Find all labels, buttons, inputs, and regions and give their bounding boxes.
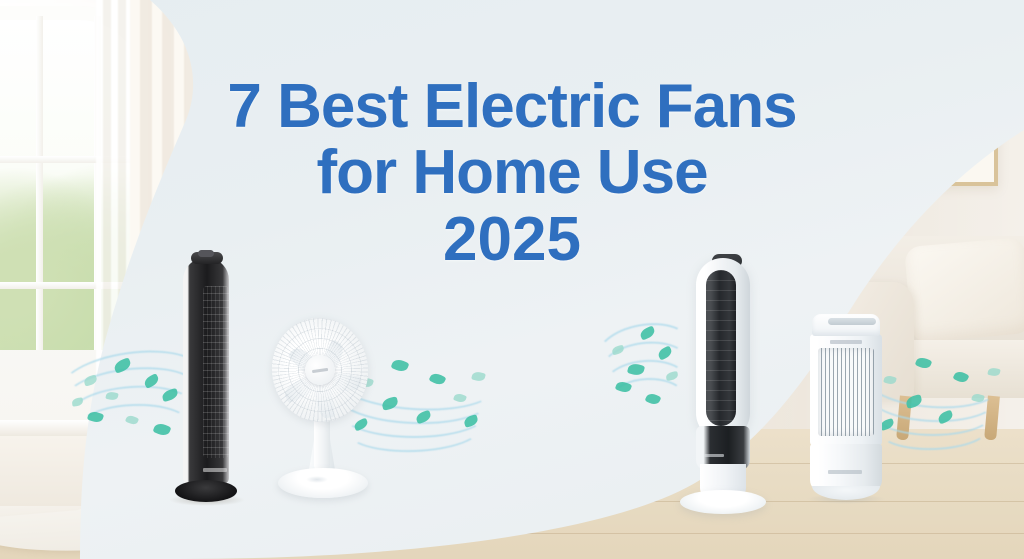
fan-2-base xyxy=(278,468,368,498)
title-line-2: for Home Use xyxy=(0,140,1024,206)
fan-4-lower-body xyxy=(810,444,882,492)
fan-3-inner-grille xyxy=(706,270,736,426)
fan-1-grille xyxy=(203,286,229,458)
banner-title: 7 Best Electric Fans for Home Use 2025 xyxy=(0,74,1024,273)
fan-1-logo xyxy=(203,468,227,472)
fan-1-body xyxy=(183,258,229,484)
fan-4-top-vent xyxy=(828,318,876,325)
title-line-3: 2025 xyxy=(0,207,1024,273)
fan-2-head xyxy=(265,312,375,428)
fan-2-control-button[interactable] xyxy=(306,476,328,483)
hero-banner: 7 Best Electric Fans for Home Use 2025 xyxy=(0,0,1024,559)
product-bladeless-tower-fan[interactable] xyxy=(676,258,768,510)
fan-4-grille xyxy=(818,348,874,436)
product-compact-tower-fan[interactable] xyxy=(806,314,886,504)
fan-3-logo xyxy=(704,454,724,457)
product-white-pedestal-fan[interactable] xyxy=(268,318,388,506)
product-black-tower-fan[interactable] xyxy=(175,250,237,506)
fan-1-base xyxy=(175,480,237,502)
fan-3-base xyxy=(680,490,766,514)
fan-4-logo-bottom xyxy=(828,470,862,474)
fan-4-logo-top xyxy=(830,340,862,344)
title-line-1: 7 Best Electric Fans xyxy=(0,74,1024,140)
fan-4-top-cap xyxy=(812,314,880,336)
